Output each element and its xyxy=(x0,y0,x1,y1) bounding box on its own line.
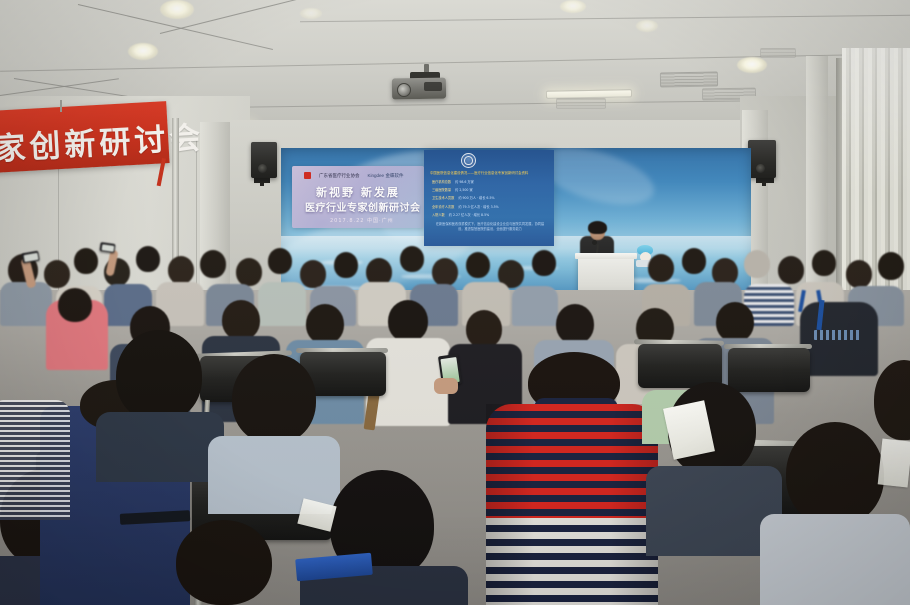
ceiling-downlight xyxy=(128,43,158,60)
audience-head xyxy=(432,258,458,286)
red-hanging-banner: 家创新研讨会 xyxy=(0,101,170,173)
ceiling-downlight xyxy=(300,8,322,19)
ceiling-air-vent xyxy=(556,98,606,109)
event-date-location: 2017.8.22 中国·广州 xyxy=(330,217,394,224)
event-title-line2: 医疗行业专家创新研讨会 xyxy=(305,199,421,214)
slide-row-value: 约 2,500 家 xyxy=(455,187,473,192)
audience-head xyxy=(532,250,556,276)
slide-row-value: 约 2.27 亿人次 · 增长 8.5% xyxy=(449,212,489,217)
event-title-line1: 新视野 新发展 xyxy=(316,184,400,200)
slide-heading: 中国医院信息化建设情况——医疗行业信息化专家创新研讨会资料 xyxy=(430,170,528,175)
slide-row-label: 医疗机构总数 xyxy=(432,179,451,184)
phone-holding-hand xyxy=(434,378,458,394)
phone-photographer-device[interactable] xyxy=(99,242,115,253)
audience-head xyxy=(648,254,674,282)
presenter-hair xyxy=(588,221,607,234)
slide-row-label: 入院人数 xyxy=(432,212,445,217)
sponsor-logo-row: 广东省医疗行业协会 Kingdee 金蝶软件 xyxy=(304,172,404,179)
audience-head xyxy=(682,248,706,274)
audience-head xyxy=(200,250,226,278)
presentation-slide: 中国医院信息化建设情况——医疗行业信息化专家创新研讨会资料 医疗机构总数 约 9… xyxy=(424,150,554,246)
ceiling-downlight xyxy=(636,20,658,32)
audience-head xyxy=(334,252,358,278)
audience-head xyxy=(812,250,836,276)
banner-hook xyxy=(60,100,62,112)
kingdee-logo-label: Kingdee 金蝶软件 xyxy=(368,173,404,179)
slide-footer: 在新医保和医改双重模式下，医疗信息化建设企业应与医院共同发展，协同建设，推进智慧… xyxy=(434,222,546,232)
audience-head xyxy=(846,260,872,288)
ceiling-downlight xyxy=(160,0,194,19)
slide-row-label: 卫生技术人员数 xyxy=(432,195,454,200)
ceiling-air-vent xyxy=(760,48,796,58)
foreground-head xyxy=(232,354,316,444)
projector-lens xyxy=(397,83,411,97)
audience-head xyxy=(778,256,804,284)
conference-room-photo: 家创新研讨会 广东省医疗行业协会 Kingdee 金蝶软件 新 xyxy=(0,0,910,605)
ceiling-downlight xyxy=(737,57,767,73)
foreground-shoulder xyxy=(760,514,910,605)
audience-head xyxy=(44,260,70,288)
institutional-crest-icon xyxy=(461,153,476,168)
slide-row: 卫生技术人员数 约 900 万人 · 增长 6.5% xyxy=(432,195,550,200)
ceiling-downlight xyxy=(560,0,586,13)
audience-head xyxy=(556,304,594,344)
audience-head xyxy=(306,304,344,344)
audience-head xyxy=(236,258,262,286)
event-title-panel: 广东省医疗行业协会 Kingdee 金蝶软件 新视野 新发展 医疗行业专家创新研… xyxy=(292,166,424,228)
audience-head xyxy=(136,246,160,272)
projector-vent xyxy=(424,82,442,91)
slide-row: 全年诊疗人次数 约 79.3 亿人次 · 增长 3.5% xyxy=(432,204,550,209)
audience-head xyxy=(388,300,428,342)
slide-row: 医疗机构总数 约 98.6 万家 xyxy=(432,179,550,184)
speaker-cone-left xyxy=(258,164,267,173)
slide-row-label: 三级医院数量 xyxy=(432,187,451,192)
audience-head xyxy=(716,302,754,342)
slide-row-value: 约 79.3 亿人次 · 增长 3.5% xyxy=(458,204,498,209)
slide-row-label: 全年诊疗人次数 xyxy=(432,204,454,209)
slide-rows: 医疗机构总数 约 98.6 万家 三级医院数量 约 2,500 家 卫生技术人员… xyxy=(432,179,550,217)
kingdee-logo-sub: 金蝶软件 xyxy=(386,173,404,178)
ceiling-air-vent xyxy=(660,71,718,87)
slide-row-value: 约 900 万人 · 增长 6.5% xyxy=(458,195,494,200)
striped-shirt-attendee xyxy=(0,400,70,520)
kingdee-logo-text: Kingdee xyxy=(368,173,385,178)
foreground-head xyxy=(176,520,272,605)
foreground-shoulder xyxy=(96,412,224,482)
audience-head xyxy=(878,252,904,280)
handout-paper[interactable] xyxy=(878,439,910,488)
audience-head xyxy=(222,300,260,340)
foreground-head xyxy=(116,330,202,422)
slide-row: 入院人数 约 2.27 亿人次 · 增长 8.5% xyxy=(432,212,550,217)
audience-head xyxy=(466,310,502,348)
foreground-head xyxy=(786,422,884,526)
chair-backrest xyxy=(728,348,810,392)
speaker-cone-right xyxy=(756,164,765,173)
audience-head xyxy=(74,248,98,274)
audience-head xyxy=(268,248,292,274)
audience-head xyxy=(300,260,326,288)
slide-row: 三级医院数量 约 2,500 家 xyxy=(432,187,550,192)
slide-row-value: 约 98.6 万家 xyxy=(455,179,474,184)
audience-head xyxy=(400,246,424,272)
audience-head-gray xyxy=(744,250,770,278)
association-logo-label: 广东省医疗行业协会 xyxy=(319,173,360,179)
striped-polo-shadow xyxy=(486,404,658,605)
association-logo-icon xyxy=(304,172,311,179)
audience-head xyxy=(466,252,490,278)
audience-head xyxy=(168,256,194,284)
